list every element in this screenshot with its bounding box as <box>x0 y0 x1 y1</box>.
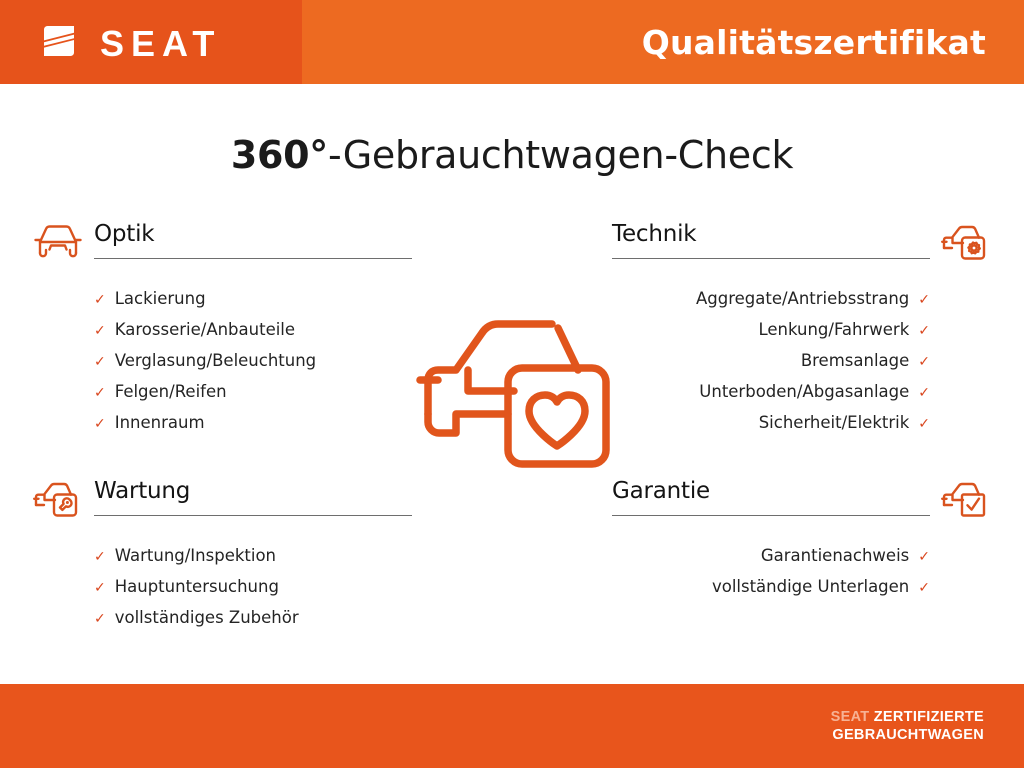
list-item: ✓ Lackierung <box>94 284 412 315</box>
section-garantie: Garantie ✓ Garantienachweis ✓ vollständi… <box>612 477 992 603</box>
checklist-technik: ✓ Aggregate/Antriebsstrang ✓ Lenkung/Fah… <box>612 284 992 439</box>
list-item: ✓ Lenkung/Fahrwerk <box>612 315 930 346</box>
list-item: ✓ Wartung/Inspektion <box>94 541 412 572</box>
section-title-optik: Optik <box>94 221 154 247</box>
check-icon: ✓ <box>94 409 106 439</box>
section-title-garantie: Garantie <box>612 478 710 504</box>
list-item: ✓ Felgen/Reifen <box>94 377 412 408</box>
list-item-label: Verglasung/Beleuchtung <box>115 346 316 376</box>
list-item: ✓ vollständiges Zubehör <box>94 603 412 634</box>
check-icon: ✓ <box>918 378 930 408</box>
car-with-check-badge-icon <box>940 477 992 521</box>
list-item-label: Lackierung <box>115 284 206 314</box>
list-item-label: Innenraum <box>115 408 205 438</box>
car-front-icon <box>32 220 84 264</box>
car-with-wrench-badge-icon <box>32 477 84 521</box>
footer-bar: SEAT ZERTIFIZIERTE GEBRAUCHTWAGEN <box>0 684 1024 768</box>
section-header-wartung: Wartung <box>32 477 412 521</box>
list-item-label: Felgen/Reifen <box>115 377 227 407</box>
check-icon: ✓ <box>918 573 930 603</box>
footer-claim: SEAT ZERTIFIZIERTE GEBRAUCHTWAGEN <box>831 708 984 744</box>
section-divider-wartung <box>94 515 412 516</box>
list-item-label: Aggregate/Antriebsstrang <box>696 284 909 314</box>
check-icon: ✓ <box>94 604 106 634</box>
list-item: ✓ vollständige Unterlagen <box>612 572 930 603</box>
section-header-technik: Technik <box>612 220 992 264</box>
list-item: ✓ Sicherheit/Elektrik <box>612 408 930 439</box>
list-item-label: Sicherheit/Elektrik <box>759 408 910 438</box>
list-item: ✓ Garantienachweis <box>612 541 930 572</box>
check-icon: ✓ <box>94 542 106 572</box>
section-technik: Technik ✓ Aggregate/Antriebsstrang ✓ Len… <box>612 220 992 439</box>
footer-line-1: SEAT ZERTIFIZIERTE <box>831 708 984 726</box>
section-title-wrap-wartung: Wartung <box>94 477 412 516</box>
checklist-optik: ✓ Lackierung ✓ Karosserie/Anbauteile ✓ V… <box>32 284 412 439</box>
list-item-label: vollständige Unterlagen <box>712 572 909 602</box>
list-item-label: Hauptuntersuchung <box>115 572 279 602</box>
list-item-label: Karosserie/Anbauteile <box>115 315 295 345</box>
section-divider-optik <box>94 258 412 259</box>
header-title: Qualitätszertifikat <box>642 0 986 84</box>
list-item: ✓ Hauptuntersuchung <box>94 572 412 603</box>
section-header-garantie: Garantie <box>612 477 992 521</box>
seat-s-logo-icon <box>36 18 82 69</box>
check-icon: ✓ <box>94 316 106 346</box>
list-item: ✓ Unterboden/Abgasanlage <box>612 377 930 408</box>
list-item-label: Lenkung/Fahrwerk <box>758 315 909 345</box>
check-icon: ✓ <box>918 347 930 377</box>
section-title-technik: Technik <box>612 221 696 247</box>
checklist-garantie: ✓ Garantienachweis ✓ vollständige Unterl… <box>612 541 992 603</box>
check-icon: ✓ <box>94 285 106 315</box>
section-title-wrap-technik: Technik <box>612 220 930 259</box>
list-item-label: Unterboden/Abgasanlage <box>699 377 909 407</box>
footer-zertifizierte-word: ZERTIFIZIERTE <box>874 709 984 725</box>
check-icon: ✓ <box>94 347 106 377</box>
check-icon: ✓ <box>918 316 930 346</box>
list-item-label: Garantienachweis <box>761 541 909 571</box>
list-item: ✓ Aggregate/Antriebsstrang <box>612 284 930 315</box>
list-item: ✓ Karosserie/Anbauteile <box>94 315 412 346</box>
footer-line-2: GEBRAUCHTWAGEN <box>831 726 984 744</box>
section-header-optik: Optik <box>32 220 412 264</box>
list-item-label: vollständiges Zubehör <box>115 603 299 633</box>
check-icon: ✓ <box>918 285 930 315</box>
seat-logo[interactable]: SEAT <box>36 18 221 69</box>
section-title-wrap-optik: Optik <box>94 220 412 259</box>
list-item: ✓ Innenraum <box>94 408 412 439</box>
section-optik: Optik ✓ Lackierung ✓ Karosserie/Anbautei… <box>32 220 412 439</box>
section-divider-garantie <box>612 515 930 516</box>
checklist-wartung: ✓ Wartung/Inspektion ✓ Hauptuntersuchung… <box>32 541 412 634</box>
check-icon: ✓ <box>918 409 930 439</box>
check-icon: ✓ <box>94 573 106 603</box>
list-item: ✓ Bremsanlage <box>612 346 930 377</box>
seat-wordmark: SEAT <box>100 26 221 62</box>
car-with-heart-badge-icon <box>416 302 612 474</box>
check-icon: ✓ <box>918 542 930 572</box>
section-wartung: Wartung ✓ Wartung/Inspektion ✓ Hauptunte… <box>32 477 412 634</box>
header-bar: SEAT Qualitätszertifikat <box>0 0 1024 84</box>
page-title-rest: -Gebrauchtwagen-Check <box>328 133 793 177</box>
footer-seat-word: SEAT <box>831 709 870 725</box>
page-title: 360°-Gebrauchtwagen-Check <box>0 133 1024 177</box>
page-title-degrees: 360° <box>231 133 328 177</box>
list-item-label: Wartung/Inspektion <box>115 541 276 571</box>
list-item: ✓ Verglasung/Beleuchtung <box>94 346 412 377</box>
section-title-wartung: Wartung <box>94 478 190 504</box>
check-icon: ✓ <box>94 378 106 408</box>
car-with-gear-badge-icon <box>940 220 992 264</box>
section-title-wrap-garantie: Garantie <box>612 477 930 516</box>
list-item-label: Bremsanlage <box>801 346 909 376</box>
section-divider-technik <box>612 258 930 259</box>
